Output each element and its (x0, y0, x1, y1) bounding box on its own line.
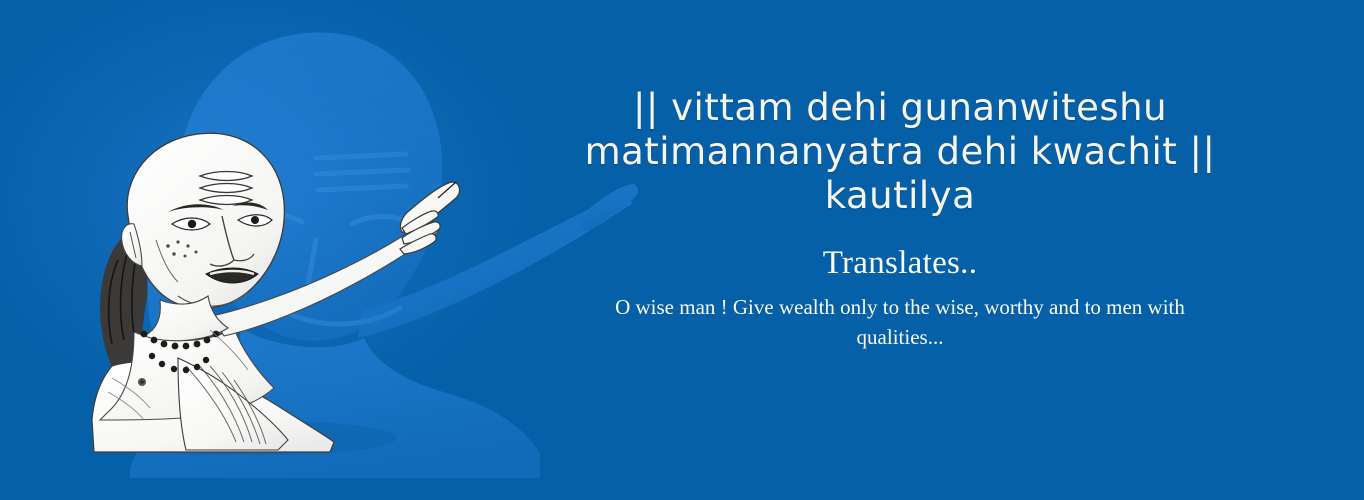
translation-line-1: O wise man ! Give wealth only to the wis… (615, 295, 1101, 319)
sage-illustration (82, 120, 502, 455)
translation-text: O wise man ! Give wealth only to the wis… (560, 292, 1240, 352)
translates-heading: Translates.. (560, 244, 1240, 282)
quote-attribution: kautilya (560, 174, 1240, 218)
quote-line-2: matimannanyatra dehi kwachit || (560, 130, 1240, 174)
quote-text-column: || vittam dehi gunanwiteshu matimannanya… (560, 86, 1240, 352)
quote-banner: || vittam dehi gunanwiteshu matimannanya… (0, 0, 1364, 500)
sanskrit-quote: || vittam dehi gunanwiteshu matimannanya… (560, 86, 1240, 218)
quote-line-1: || vittam dehi gunanwiteshu (560, 86, 1240, 130)
